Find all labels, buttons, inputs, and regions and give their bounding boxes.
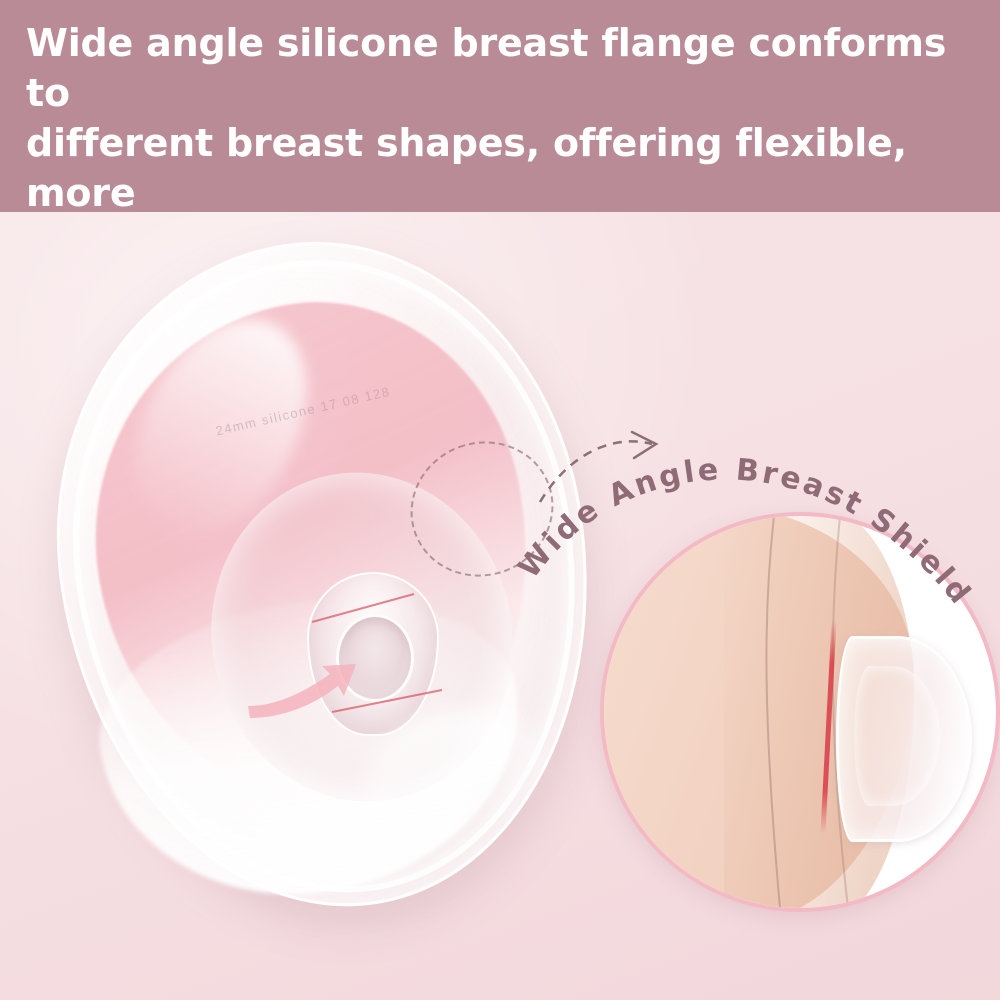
product-photo: 24mm silicone 17 08 128 xyxy=(0,212,1000,1000)
breast-shield-product: 24mm silicone 17 08 128 xyxy=(62,242,622,932)
product-infographic: Wide angle silicone breast flange confor… xyxy=(0,0,1000,1000)
callout-circle xyxy=(600,512,1000,912)
header-banner: Wide angle silicone breast flange confor… xyxy=(0,0,1000,212)
pink-arrow-icon xyxy=(244,660,364,720)
